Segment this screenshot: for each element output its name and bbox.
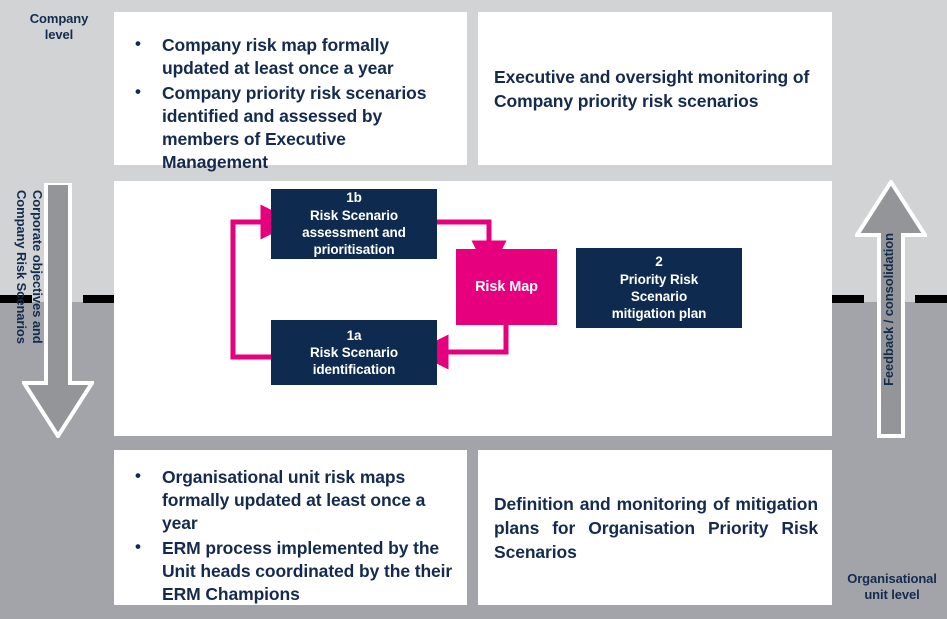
process-box-1b-line-3: prioritisation bbox=[302, 241, 406, 258]
list-item: ERM process implemented by the Unit head… bbox=[132, 537, 453, 606]
company-level-line-1: Company bbox=[6, 11, 112, 27]
unit-level-line-2: unit level bbox=[840, 587, 944, 603]
company-level-line-2: level bbox=[6, 27, 112, 43]
executive-oversight-text-wrap: Executive and oversight monitoring of Co… bbox=[494, 64, 818, 112]
list-item: Company risk map formally updated at lea… bbox=[132, 34, 453, 80]
mitigation-definition-text-wrap: Definition and monitoring of mitigation … bbox=[494, 491, 818, 563]
executive-oversight-text: Executive and oversight monitoring of Co… bbox=[494, 64, 818, 112]
process-box-plan-content: 2 Priority Risk Scenario mitigation plan bbox=[608, 253, 711, 322]
card-executive-oversight: Executive and oversight monitoring of Co… bbox=[478, 12, 832, 165]
left-arrow-label: Corporate objectives and Company Risk Sc… bbox=[31, 190, 45, 344]
process-box-1b[interactable]: 1b Risk Scenario assessment and prioriti… bbox=[271, 189, 437, 259]
process-box-plan-line-1: Priority Risk bbox=[612, 271, 707, 288]
list-item: Organisational unit risk maps formally u… bbox=[132, 466, 453, 535]
unit-level-bullet-list: Organisational unit risk maps formally u… bbox=[114, 450, 467, 607]
process-box-risk-map-label: Risk Map bbox=[471, 278, 542, 297]
diagram-canvas: Company level Organisational unit level … bbox=[0, 0, 947, 619]
list-item: Company priority risk scenarios identifi… bbox=[132, 82, 453, 174]
company-level-bullet-list: Company risk map formally updated at lea… bbox=[114, 12, 467, 175]
process-box-risk-map[interactable]: Risk Map bbox=[456, 249, 557, 325]
left-arrow-label-line-2: Company Risk Scenarios bbox=[13, 190, 29, 344]
mitigation-definition-text: Definition and monitoring of mitigation … bbox=[494, 491, 818, 563]
process-box-1b-content: 1b Risk Scenario assessment and prioriti… bbox=[298, 189, 410, 258]
process-box-1a-content: 1a Risk Scenario identification bbox=[306, 327, 402, 379]
corner-label-company-level: Company level bbox=[6, 11, 112, 44]
corner-label-organisational-unit-level: Organisational unit level bbox=[840, 571, 944, 604]
process-box-plan-line-2: Scenario bbox=[612, 288, 707, 305]
process-box-1b-line-1: Risk Scenario bbox=[302, 207, 406, 224]
card-unit-level-bullets: Organisational unit risk maps formally u… bbox=[114, 450, 467, 605]
left-arrow-label-line-1: Corporate objectives and bbox=[29, 190, 45, 344]
process-box-mitigation-plan[interactable]: 2 Priority Risk Scenario mitigation plan bbox=[576, 248, 742, 328]
process-box-plan-number: 2 bbox=[612, 253, 707, 270]
process-box-1b-number: 1b bbox=[302, 189, 406, 206]
process-box-1a-line-1: Risk Scenario bbox=[310, 344, 398, 361]
process-box-plan-line-3: mitigation plan bbox=[612, 305, 707, 322]
process-box-1a[interactable]: 1a Risk Scenario identification bbox=[271, 320, 437, 385]
right-arrow-label: Feedback / consolidation bbox=[881, 233, 897, 386]
process-box-1a-line-2: identification bbox=[310, 361, 398, 378]
process-box-1a-number: 1a bbox=[310, 327, 398, 344]
process-box-1b-line-2: assessment and bbox=[302, 224, 406, 241]
unit-level-line-1: Organisational bbox=[840, 571, 944, 587]
card-mitigation-definition: Definition and monitoring of mitigation … bbox=[478, 450, 832, 605]
card-company-level-bullets: Company risk map formally updated at lea… bbox=[114, 12, 467, 165]
